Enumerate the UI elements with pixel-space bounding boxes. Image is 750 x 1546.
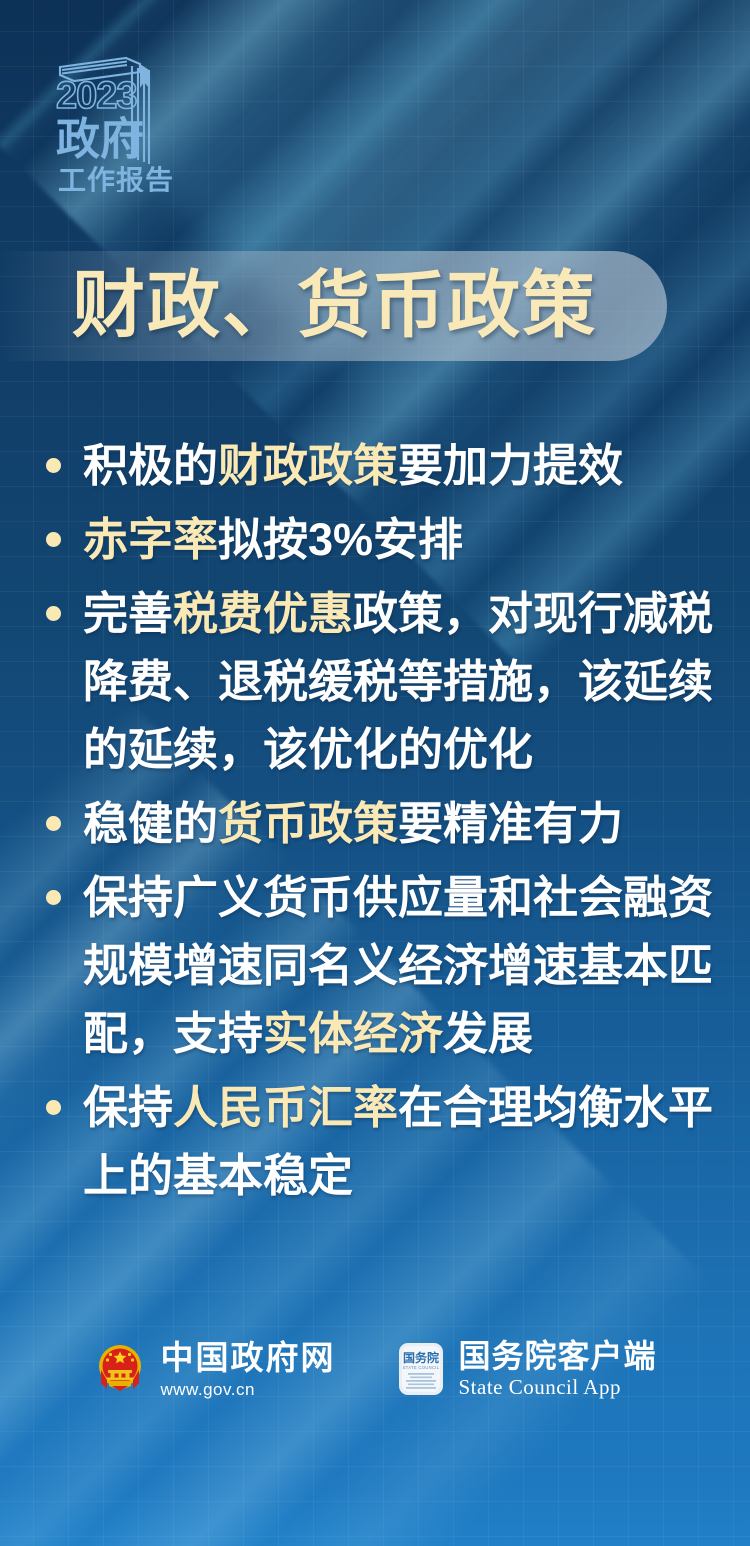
bullet-dot-icon (46, 816, 61, 831)
bullet-text: 积极的财政政策要加力提效 (83, 432, 726, 500)
plain-phrase: 发展 (443, 1008, 533, 1059)
gov-site-words: 中国政府网 www.gov.cn (160, 1341, 335, 1398)
highlighted-phrase: 税费优惠 (173, 588, 353, 639)
report-logo: 2023 政府 工作报告 (48, 42, 208, 192)
gov-site-url: www.gov.cn (160, 1381, 335, 1398)
bullet-dot-icon (46, 890, 61, 905)
list-item: 赤字率拟按3%安排 (46, 506, 726, 574)
highlighted-phrase: 赤字率 (83, 514, 218, 565)
policy-list: 积极的财政政策要加力提效 赤字率拟按3%安排 完善税费优惠政策，对现行减税降费、… (46, 432, 726, 1216)
state-council-name-en: State Council App (458, 1377, 656, 1398)
bullet-text: 稳健的货币政策要精准有力 (83, 790, 726, 858)
bullet-text: 完善税费优惠政策，对现行减税降费、退税缓税等措施，该延续的延续，该优化的优化 (83, 580, 726, 784)
list-item: 保持广义货币供应量和社会融资规模增速同名义经济增速基本匹配，支持实体经济发展 (46, 864, 726, 1068)
bullet-dot-icon (46, 1100, 61, 1115)
state-council-words: 国务院客户端 State Council App (458, 1340, 656, 1398)
bullet-text: 保持广义货币供应量和社会融资规模增速同名义经济增速基本匹配，支持实体经济发展 (83, 864, 726, 1068)
highlighted-phrase: 人民币汇率 (173, 1082, 398, 1133)
svg-text:政府: 政府 (56, 115, 144, 164)
bullet-dot-icon (46, 458, 61, 473)
list-item: 保持人民币汇率在合理均衡水平上的基本稳定 (46, 1074, 726, 1210)
national-emblem-icon (93, 1342, 147, 1396)
sc-icon-cn: 国务院 (403, 1350, 439, 1365)
plain-phrase: 稳健的 (83, 798, 218, 849)
list-item: 稳健的货币政策要精准有力 (46, 790, 726, 858)
highlighted-phrase: 货币政策 (218, 798, 398, 849)
sc-icon-en: STATE COUNCIL (403, 1365, 440, 1370)
plain-phrase: 保持 (83, 1082, 173, 1133)
plain-phrase: 完善 (83, 588, 173, 639)
footer-brands: 中国政府网 www.gov.cn 国务院 STATE COUNCIL (0, 1340, 750, 1398)
plain-phrase: 拟按3%安排 (218, 514, 463, 565)
plain-phrase: 积极的 (83, 440, 218, 491)
page-title: 财政、货币政策 (72, 256, 597, 356)
state-council-name: 国务院客户端 (458, 1340, 656, 1372)
highlighted-phrase: 财政政策 (218, 440, 398, 491)
poster-root: 2023 政府 工作报告 财政、货币政策 积极的财政政策要加力提效 赤字率拟按3… (0, 0, 750, 1546)
gov-site-brand[interactable]: 中国政府网 www.gov.cn (93, 1341, 335, 1398)
svg-text:工作报告: 工作报告 (58, 165, 174, 192)
bullet-text: 保持人民币汇率在合理均衡水平上的基本稳定 (83, 1074, 726, 1210)
svg-text:2023: 2023 (56, 75, 137, 117)
state-council-app-icon: 国务院 STATE COUNCIL (397, 1342, 445, 1396)
gov-site-name: 中国政府网 (160, 1341, 335, 1374)
bullet-dot-icon (46, 532, 61, 547)
state-council-brand[interactable]: 国务院 STATE COUNCIL 国务院客户端 State Council A… (397, 1340, 656, 1398)
plain-phrase: 要精准有力 (398, 798, 623, 849)
bullet-dot-icon (46, 606, 61, 621)
list-item: 完善税费优惠政策，对现行减税降费、退税缓税等措施，该延续的延续，该优化的优化 (46, 580, 726, 784)
list-item: 积极的财政政策要加力提效 (46, 432, 726, 500)
bullet-text: 赤字率拟按3%安排 (83, 506, 726, 574)
highlighted-phrase: 实体经济 (263, 1008, 443, 1059)
plain-phrase: 要加力提效 (398, 440, 623, 491)
